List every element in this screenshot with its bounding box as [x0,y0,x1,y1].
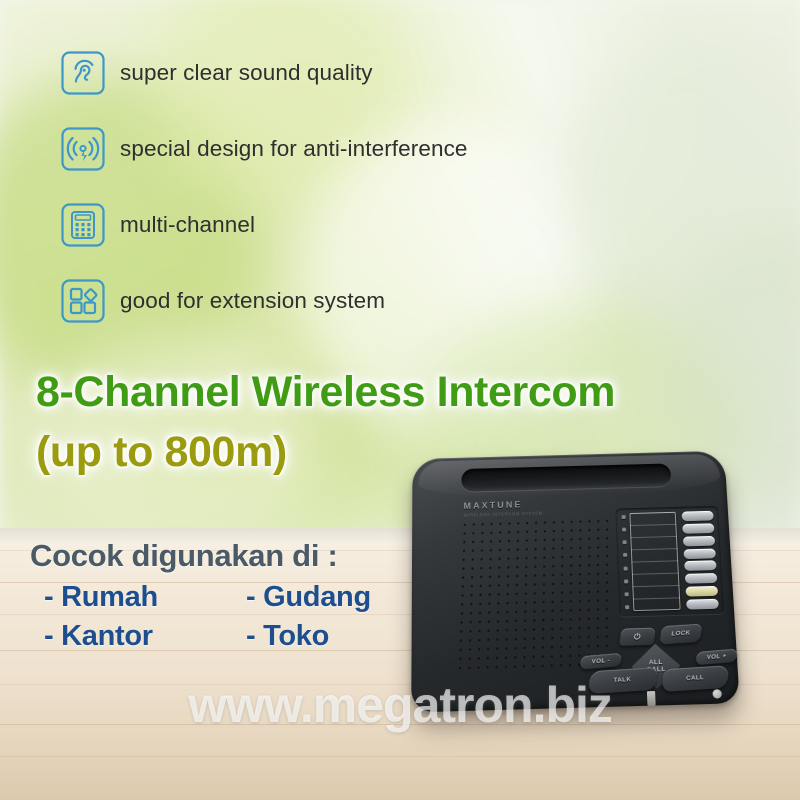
channel-panel [615,506,724,617]
brand-label: MAXTUNE [464,500,523,511]
device-stand [647,691,656,706]
channel-button-8[interactable] [686,599,719,610]
name-label-card [629,512,680,611]
channel-mark [625,605,629,609]
lock-button[interactable]: LOCK [659,624,702,645]
lock-label: LOCK [671,630,691,637]
volume-up-label: VOL + [706,653,726,661]
channel-button-5[interactable] [684,561,716,572]
feature-label: good for extension system [120,288,385,314]
feature-item: super clear sound quality [60,44,620,102]
feature-item: special design for anti-interference [60,120,620,178]
carry-handle [461,463,671,491]
channel-mark [625,592,629,596]
headline-line-1: 8-Channel Wireless Intercom [36,368,796,417]
usage-title: Cocok digunakan di : [30,538,430,574]
channel-mark [623,553,627,557]
ear-icon [60,50,106,96]
keypad-icon [60,202,106,248]
power-icon: ⏻ [633,632,641,642]
feature-list: super clear sound quality special design… [60,44,620,348]
control-cluster: ⏻ LOCK VOL - VOL + ALL CALL TALK CALL [582,626,735,698]
status-led [712,689,722,699]
channel-button-7[interactable] [686,586,719,597]
channel-mark [624,579,628,583]
intercom-device: MAXTUNE WIRELESS INTERCOM SYSTEM [411,451,740,713]
channel-button-6[interactable] [685,573,718,584]
signal-icon [60,126,106,172]
channel-mark [622,515,626,519]
usage-item: - Rumah [30,581,230,614]
product-image: MAXTUNE WIRELESS INTERCOM SYSTEM [398,446,770,716]
grid-shapes-icon [60,278,106,324]
feature-item: good for extension system [60,272,620,330]
feature-item: multi-channel [60,196,620,254]
usage-item: - Gudang [230,581,410,614]
brand-subtitle: WIRELESS INTERCOM SYSTEM [464,511,543,518]
channel-mark [624,566,628,570]
usage-list: - Rumah - Gudang - Kantor - Toko [30,581,430,653]
feature-label: multi-channel [120,212,255,238]
volume-up-button[interactable]: VOL + [695,649,737,666]
channel-mark [623,540,627,544]
usage-block: Cocok digunakan di : - Rumah - Gudang - … [30,538,430,653]
channel-button-4[interactable] [684,548,716,559]
call-label: CALL [686,675,704,682]
channel-button-column[interactable] [682,511,719,610]
power-button[interactable]: ⏻ [619,628,656,646]
channel-button-3[interactable] [683,536,715,547]
channel-mark [622,528,626,532]
usage-item: - Toko [230,620,410,653]
call-button[interactable]: CALL [661,665,729,692]
feature-label: special design for anti-interference [120,136,468,162]
volume-down-label: VOL - [591,657,610,665]
channel-button-2[interactable] [682,523,714,534]
talk-label: TALK [614,677,632,684]
volume-down-button[interactable]: VOL - [580,653,622,670]
channel-button-1[interactable] [682,511,714,521]
feature-label: super clear sound quality [120,60,373,86]
usage-item: - Kantor [30,620,230,653]
talk-button[interactable]: TALK [588,667,658,694]
